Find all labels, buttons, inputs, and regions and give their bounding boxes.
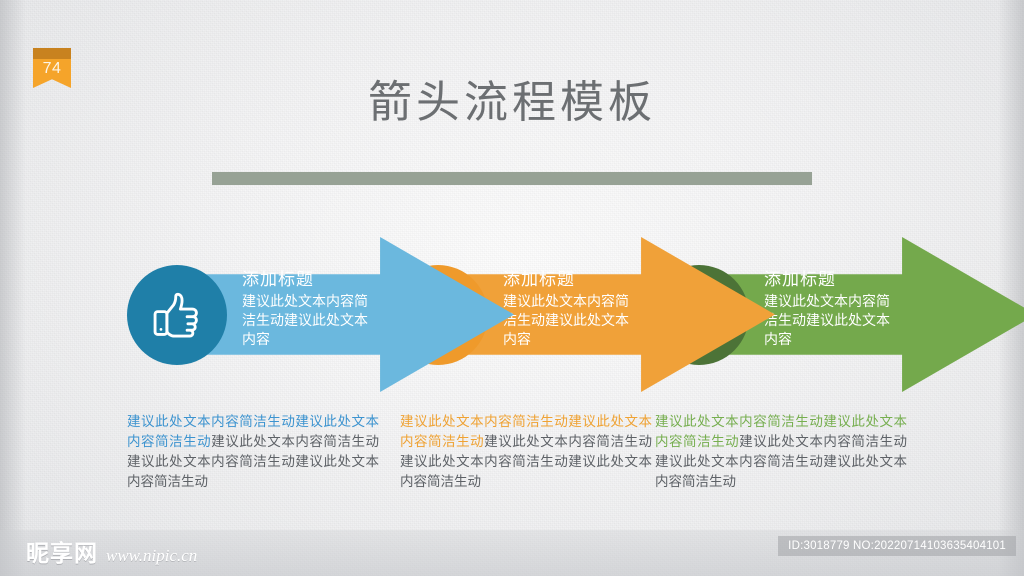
step-2-title: 添加标题 — [503, 269, 663, 291]
step-1-text-block: 添加标题 建议此处文本内容简洁生动建议此处文本内容 — [242, 269, 402, 350]
step-3-text-block: 添加标题 建议此处文本内容简洁生动建议此处文本内容 — [764, 269, 924, 350]
description-paragraph-3: 建议此处文本内容简洁生动建议此处文本内容简洁生动建议此处文本内容简洁生动建议此处… — [655, 412, 907, 492]
badge-number: 74 — [33, 60, 71, 78]
badge-ribbon-top-band — [33, 48, 71, 59]
watermark-logo-text: 昵享网 — [26, 541, 98, 568]
step-1-body: 建议此处文本内容简洁生动建议此处文本内容 — [242, 293, 380, 350]
page-number-badge: 74 — [33, 48, 71, 88]
step-3-title: 添加标题 — [764, 269, 924, 291]
description-paragraph-2: 建议此处文本内容简洁生动建议此处文本内容简洁生动建议此处文本内容简洁生动建议此处… — [400, 412, 652, 492]
thumbs-up-icon — [150, 288, 204, 342]
description-paragraph-1: 建议此处文本内容简洁生动建议此处文本内容简洁生动建议此处文本内容简洁生动建议此处… — [127, 412, 379, 492]
step-1-title: 添加标题 — [242, 269, 402, 291]
step-3-body: 建议此处文本内容简洁生动建议此处文本内容 — [764, 293, 902, 350]
step-2-body: 建议此处文本内容简洁生动建议此处文本内容 — [503, 293, 641, 350]
step-1-icon-circle — [127, 265, 227, 365]
asset-id-tag: ID:3018779 NO:20220714103635404101 — [778, 536, 1016, 556]
page-title: 箭头流程模板 — [0, 74, 1024, 132]
process-step-1[interactable]: 添加标题 建议此处文本内容简洁生动建议此处文本内容 — [152, 237, 514, 392]
step-2-text-block: 添加标题 建议此处文本内容简洁生动建议此处文本内容 — [503, 269, 663, 350]
slide-canvas: 74 箭头流程模板 添加标题 建议此处文本内容简洁生动建议此处文本内容 添加标题… — [0, 0, 1024, 576]
title-underline-bar — [212, 172, 812, 185]
watermark-url: www.nipic.cn — [106, 546, 197, 566]
site-watermark: 昵享网 www.nipic.cn — [26, 541, 197, 568]
